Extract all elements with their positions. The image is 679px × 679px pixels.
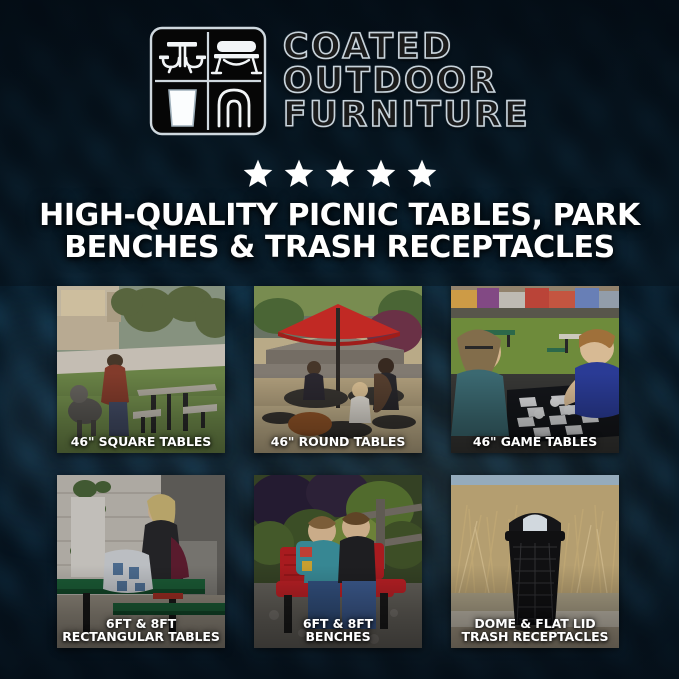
product-caption-square-tables: 46" SQUARE TABLES xyxy=(59,435,223,448)
product-tile-trash-receptacles[interactable]: DOME & FLAT LID TRASH RECEPTACLES xyxy=(451,475,619,648)
product-tile-game-tables[interactable]: 46" GAME TABLES xyxy=(451,286,619,453)
caption-line-2: TRASH RECEPTACLES xyxy=(453,630,617,643)
wordmark-line-2: OUTDOOR xyxy=(283,64,498,98)
product-caption-rectangular-tables: 6FT & 8FT RECTANGULAR TABLES xyxy=(59,617,223,643)
caption-line-1: DOME & FLAT LID xyxy=(453,617,617,630)
star-icon xyxy=(365,158,397,189)
caption-line-1: 6FT & 8FT xyxy=(59,617,223,630)
caption-line-1: 6FT & 8FT xyxy=(256,617,420,630)
trash-receptacle-icon xyxy=(169,90,196,126)
product-caption-round-tables: 46" ROUND TABLES xyxy=(256,435,420,448)
caption-line-1: 46" ROUND TABLES xyxy=(256,435,420,448)
product-caption-game-tables: 46" GAME TABLES xyxy=(453,435,617,448)
star-icon xyxy=(406,158,438,189)
caption-line-1: 46" GAME TABLES xyxy=(453,435,617,448)
headline-line-1: HIGH-QUALITY PICNIC TABLES, PARK xyxy=(30,200,649,232)
star-icon xyxy=(283,158,315,189)
product-tile-square-tables[interactable]: 46" SQUARE TABLES xyxy=(57,286,225,453)
page-title: HIGH-QUALITY PICNIC TABLES, PARK BENCHES… xyxy=(30,200,649,265)
brand-wordmark: COATED OUTDOOR FURNITURE xyxy=(283,30,530,133)
product-caption-benches: 6FT & 8FT BENCHES xyxy=(256,617,420,643)
wordmark-line-1: COATED xyxy=(283,30,454,64)
product-caption-trash-receptacles: DOME & FLAT LID TRASH RECEPTACLES xyxy=(453,617,617,643)
product-photo-game-tables xyxy=(451,286,619,453)
caption-line-2: RECTANGULAR TABLES xyxy=(59,630,223,643)
product-photo-round-tables xyxy=(254,286,422,453)
product-tile-benches[interactable]: 6FT & 8FT BENCHES xyxy=(254,475,422,648)
product-tile-rectangular-tables[interactable]: 6FT & 8FT RECTANGULAR TABLES xyxy=(57,475,225,648)
product-photo-square-tables xyxy=(57,286,225,453)
product-tile-round-tables[interactable]: 46" ROUND TABLES xyxy=(254,286,422,453)
product-grid: 46" SQUARE TABLES xyxy=(57,286,619,648)
four-quadrant-furniture-icon xyxy=(149,26,267,136)
caption-line-2: BENCHES xyxy=(256,630,420,643)
star-rating xyxy=(0,158,679,189)
caption-line-1: 46" SQUARE TABLES xyxy=(59,435,223,448)
promo-banner: COATED OUTDOOR FURNITURE HIGH-QUALITY PI… xyxy=(0,0,679,679)
brand-logo: COATED OUTDOOR FURNITURE xyxy=(0,26,679,136)
wordmark-line-3: FURNITURE xyxy=(283,98,530,132)
headline-line-2: BENCHES & TRASH RECEPTACLES xyxy=(30,232,649,264)
star-icon xyxy=(324,158,356,189)
star-icon xyxy=(242,158,274,189)
